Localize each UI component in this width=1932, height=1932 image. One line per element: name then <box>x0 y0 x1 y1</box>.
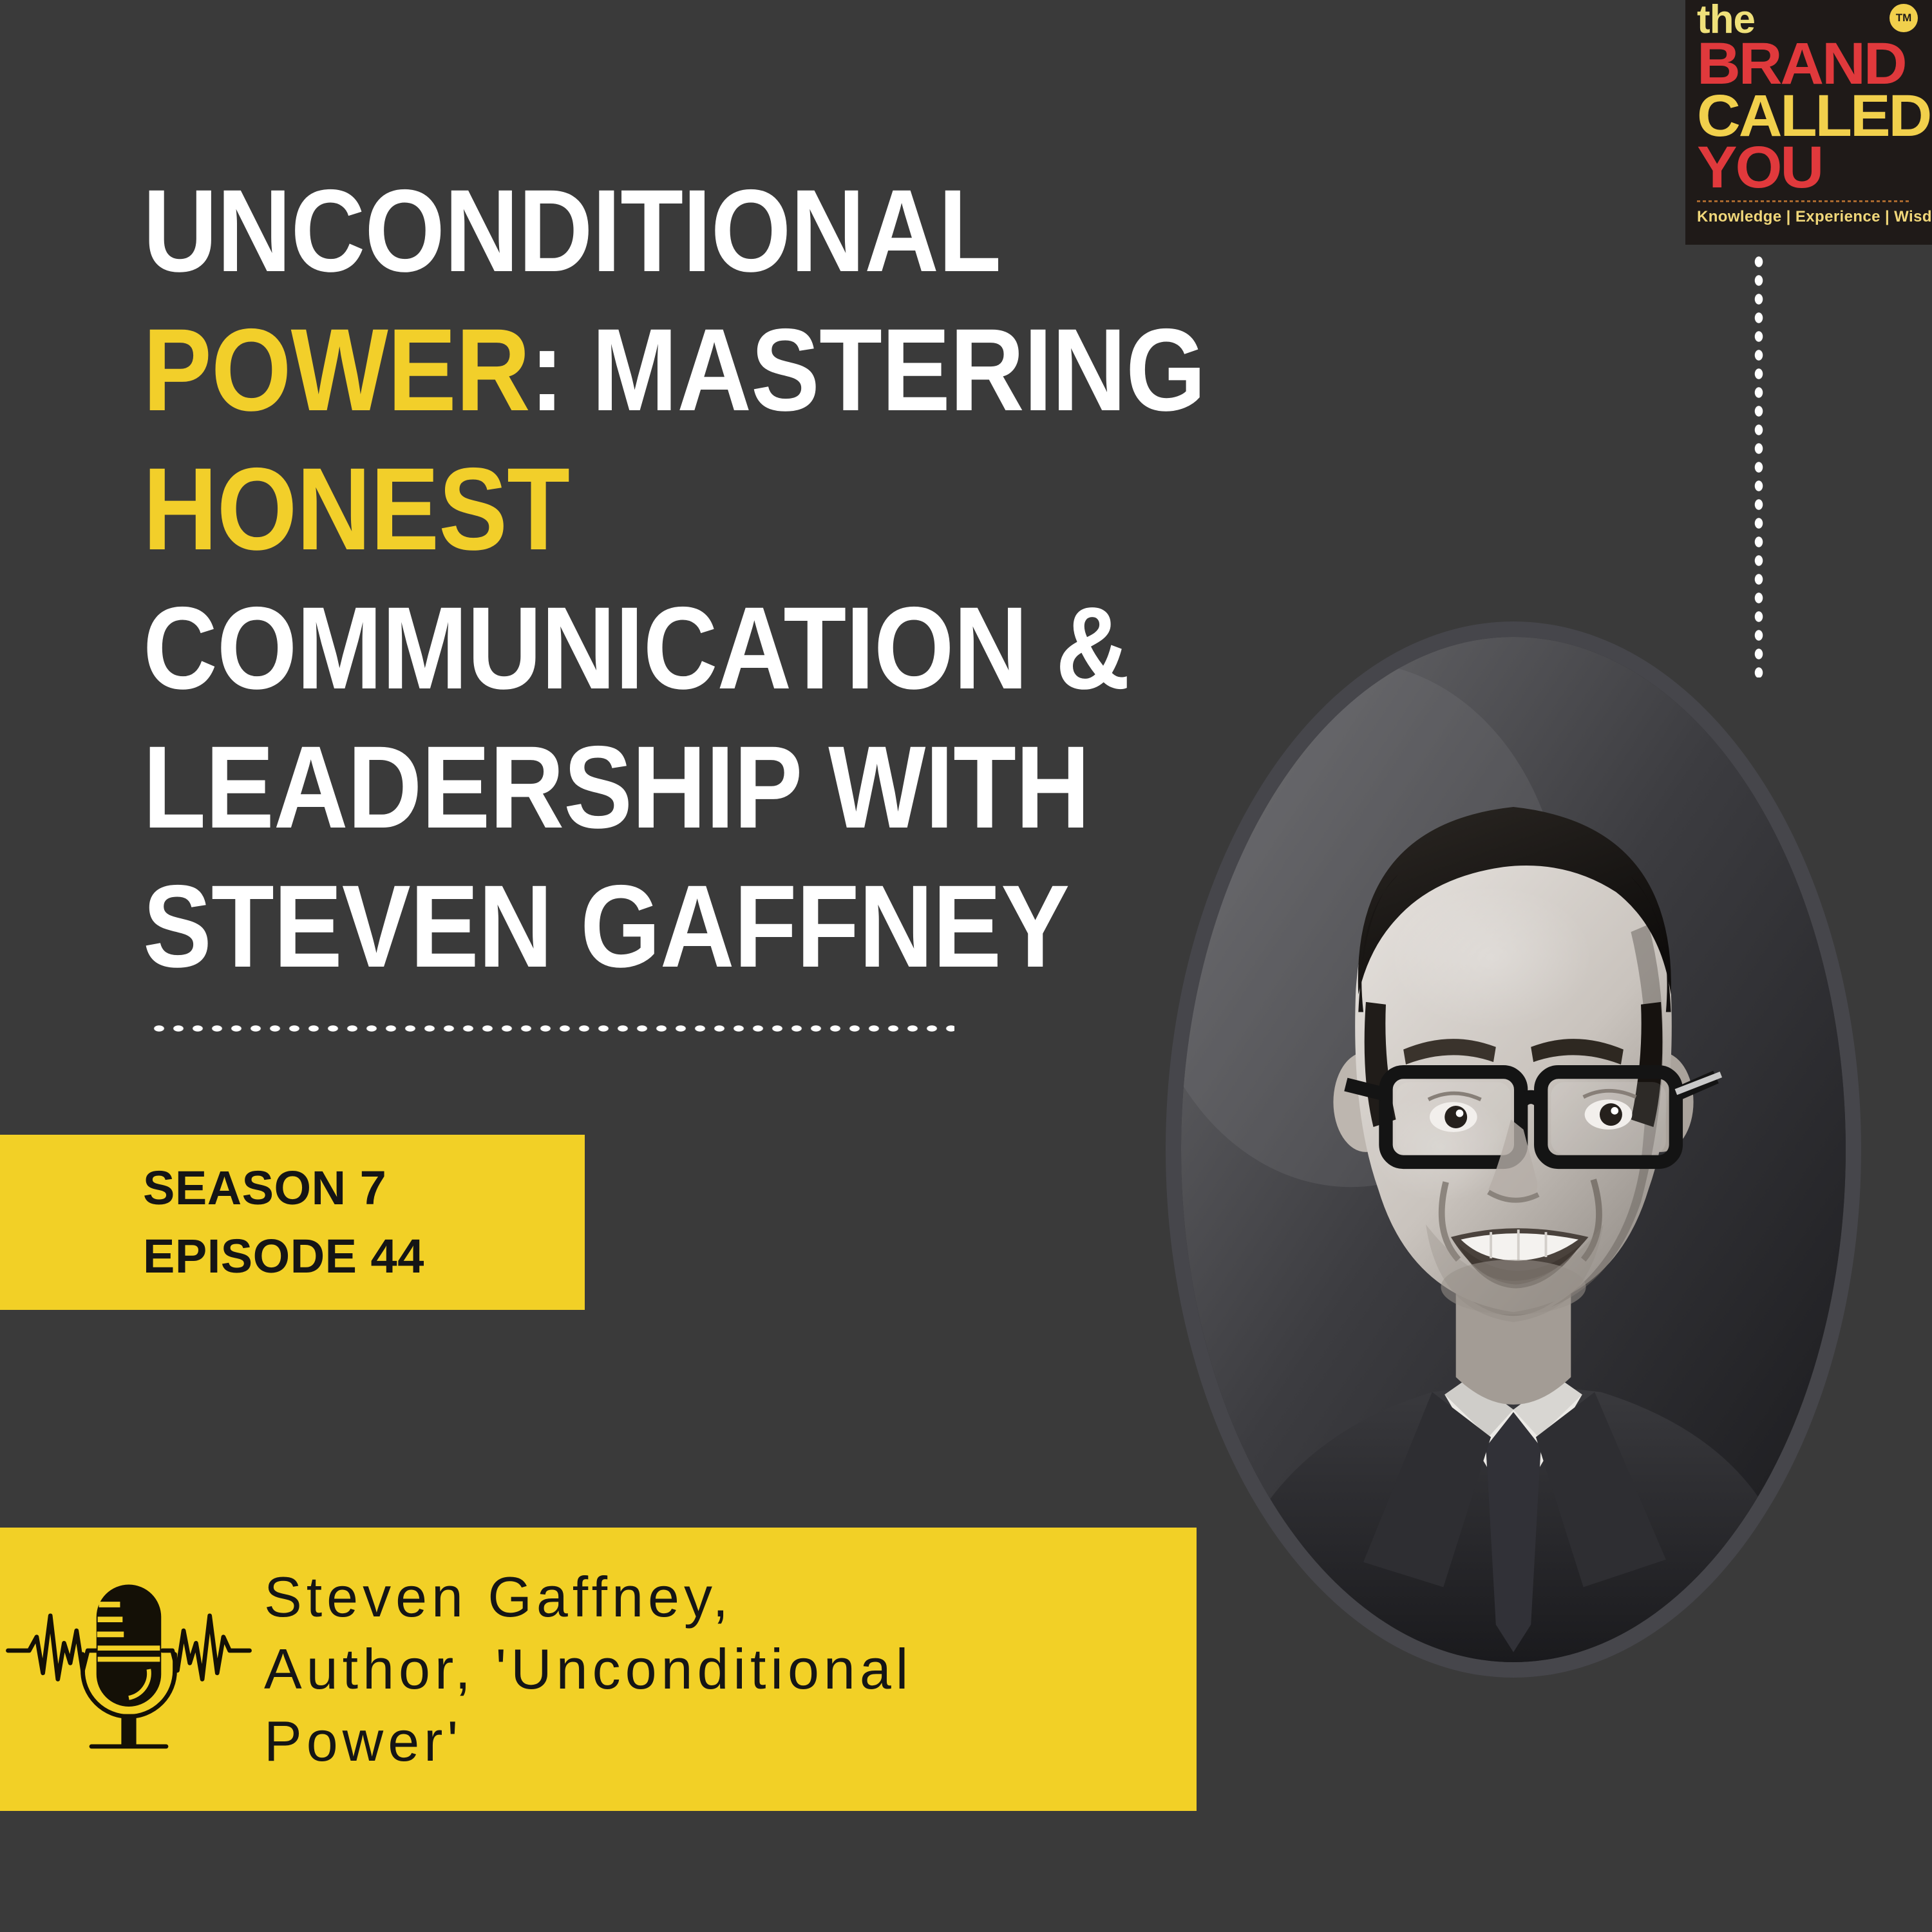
guest-portrait <box>1166 621 1861 1678</box>
title-line-2-highlight: POWER <box>143 304 530 435</box>
logo-divider <box>1697 200 1909 202</box>
episode-label: EPISODE 44 <box>143 1222 585 1291</box>
title-line-5: LEADERSHIP WITH <box>143 721 1090 853</box>
logo-brand-label: BRAND <box>1697 38 1930 90</box>
vertical-dotted-divider <box>1752 252 1766 677</box>
microphone-waveform-icon <box>0 1573 258 1766</box>
brand-logo-text: the BRAND CALLED YOU Knowledge | Experie… <box>1697 3 1926 226</box>
logo-you-label: YOU <box>1697 142 1930 194</box>
brand-logo[interactable]: the BRAND CALLED YOU Knowledge | Experie… <box>1685 0 1932 245</box>
episode-title: UNCONDITIONAL POWER: MASTERING HONEST CO… <box>143 161 1236 996</box>
microphone-icon-svg <box>3 1576 254 1763</box>
season-episode-badge: SEASON 7 EPISODE 44 <box>0 1135 585 1310</box>
portrait-illustration <box>1181 637 1846 1662</box>
title-line-6: STEVEN GAFFNEY <box>143 860 1069 992</box>
portrait-photo <box>1181 637 1846 1662</box>
title-line-4: COMMUNICATION & <box>143 582 1130 714</box>
podcast-cover: the BRAND CALLED YOU Knowledge | Experie… <box>0 0 1932 1932</box>
season-label: SEASON 7 <box>143 1154 585 1222</box>
horizontal-dotted-divider <box>149 1023 954 1034</box>
logo-called-label: CALLED <box>1697 90 1930 142</box>
title-line-1: UNCONDITIONAL <box>143 165 1001 296</box>
title-line-2-colon: : <box>530 304 563 435</box>
guest-name-bar: Steven Gaffney, Author, 'Unconditional P… <box>0 1528 1197 1811</box>
logo-tagline: Knowledge | Experience | Wisdom <box>1697 208 1926 226</box>
trademark-icon: TM <box>1889 4 1918 32</box>
title-line-3-highlight: HONEST <box>143 443 569 574</box>
guest-name-label: Steven Gaffney, Author, 'Unconditional P… <box>264 1561 913 1777</box>
title-line-2-rest: MASTERING <box>563 304 1206 435</box>
